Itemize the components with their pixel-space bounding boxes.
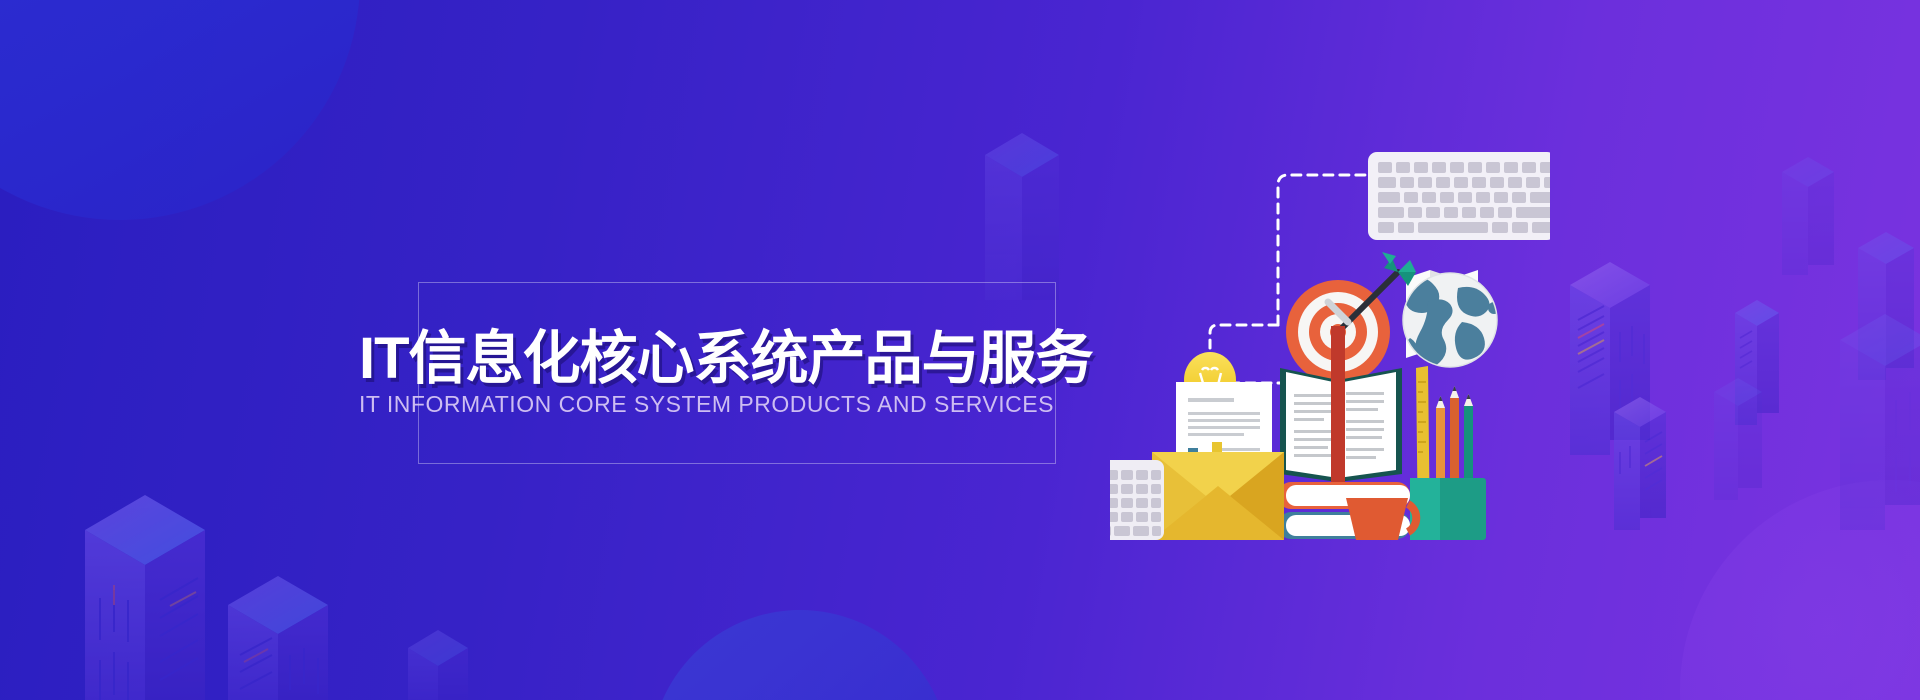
- building-right-d: [1735, 300, 1779, 425]
- circle-bottom-right-shape: [1680, 480, 1920, 700]
- building-right-f: [1614, 397, 1666, 530]
- building-left-short: [228, 576, 328, 700]
- building-mid-top: [985, 133, 1059, 300]
- building-right-g: [1714, 378, 1762, 500]
- it-office-desk-illustration: [1110, 130, 1550, 580]
- building-left-tall: [85, 495, 205, 700]
- keyboard-bottom-icon: [1110, 460, 1164, 540]
- building-center-slim: [408, 630, 468, 700]
- hero-banner: IT信息化核心系统产品与服务 IT INFORMATION CORE SYSTE…: [0, 0, 1920, 700]
- headline-frame: IT信息化核心系统产品与服务 IT INFORMATION CORE SYSTE…: [418, 282, 1056, 464]
- page-subtitle: IT INFORMATION CORE SYSTEM PRODUCTS AND …: [359, 391, 1119, 418]
- building-right-b: [1782, 157, 1834, 275]
- circle-bottom-center-shape: [650, 610, 950, 700]
- bookmark-ribbon-icon: [1331, 326, 1345, 494]
- circle-top-left-shape: [0, 0, 360, 220]
- building-right-e: [1840, 314, 1920, 530]
- keyboard-top-icon: [1368, 152, 1550, 240]
- page-title: IT信息化核心系统产品与服务: [359, 311, 1119, 395]
- pencil-holder-icon: [1410, 366, 1486, 540]
- envelope-icon: [1152, 452, 1284, 540]
- building-right-a: [1570, 262, 1650, 455]
- building-right-c: [1858, 232, 1914, 380]
